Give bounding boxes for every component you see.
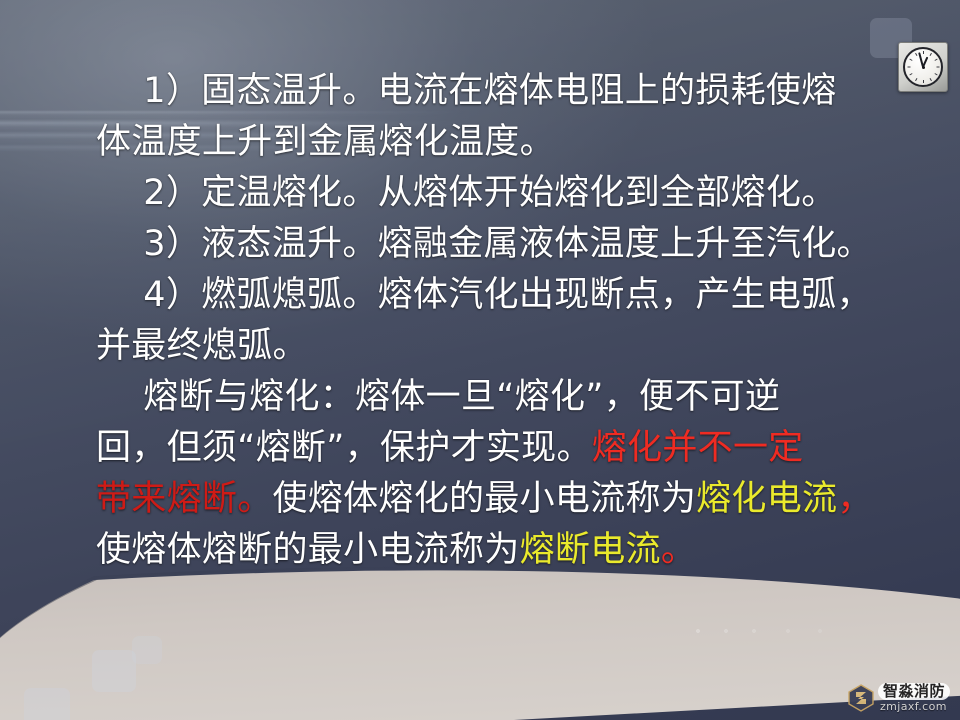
text-run: 并最终熄弧。 <box>96 326 308 366</box>
paragraph-summary-cont-2: 带来熔断。使熔体熔化的最小电流称为熔化电流， <box>96 474 916 524</box>
text-run: 熔断电流 <box>520 530 661 570</box>
text-run: 带来熔断。 <box>96 479 273 519</box>
text-run: 4）燃弧熄弧。熔体汽化出现断点，产生电弧， <box>143 275 872 315</box>
paragraph-item-4-cont: 并最终熄弧。 <box>96 321 916 371</box>
text-run: 1）固态温升。电流在熔体电阻上的损耗使熔 <box>143 71 836 111</box>
slide-body-text: 1）固态温升。电流在熔体电阻上的损耗使熔体温度上升到金属熔化温度。2）定温熔化。… <box>96 66 916 576</box>
paragraph-item-4: 4）燃弧熄弧。熔体汽化出现断点，产生电弧， <box>96 270 916 320</box>
clock-center-pin <box>922 66 925 69</box>
zhimiao-logo-icon <box>848 684 874 712</box>
text-run: 回，但须“熔断”，保护才实现。 <box>96 428 592 468</box>
text-run: 熔断与熔化：熔体一旦“熔化”，便不可逆 <box>143 377 780 417</box>
watermark-text: 智淼消防 zmjaxf.com <box>878 683 950 712</box>
watermark-brand: 智淼消防 <box>878 683 950 700</box>
text-run: ， <box>837 479 872 519</box>
clock-minute-hand <box>918 52 923 67</box>
paragraph-item-2: 2）定温熔化。从熔体开始熔化到全部熔化。 <box>96 168 916 218</box>
text-run: 使熔体熔断的最小电流称为 <box>96 530 520 570</box>
text-run: 体温度上升到金属熔化温度。 <box>96 122 555 162</box>
paragraph-item-1-cont: 体温度上升到金属熔化温度。 <box>96 117 916 167</box>
watermark-url: zmjaxf.com <box>878 701 950 712</box>
paragraph-summary: 熔断与熔化：熔体一旦“熔化”，便不可逆 <box>96 372 916 422</box>
presentation-slide: 1）固态温升。电流在熔体电阻上的损耗使熔体温度上升到金属熔化温度。2）定温熔化。… <box>0 0 960 720</box>
text-run: 熔化并不一定 <box>592 428 804 468</box>
paragraph-item-1: 1）固态温升。电流在熔体电阻上的损耗使熔 <box>96 66 916 116</box>
watermark: 智淼消防 zmjaxf.com <box>848 683 950 712</box>
text-run: 使熔体熔化的最小电流称为 <box>273 479 697 519</box>
text-run: 3）液态温升。熔融金属液体温度上升至汽化。 <box>143 224 872 264</box>
text-run: 2）定温熔化。从熔体开始熔化到全部熔化。 <box>143 173 836 213</box>
paragraph-summary-cont-1: 回，但须“熔断”，保护才实现。熔化并不一定 <box>96 423 916 473</box>
text-run: 。 <box>661 530 696 570</box>
paragraph-item-3: 3）液态温升。熔融金属液体温度上升至汽化。 <box>96 219 916 269</box>
paragraph-summary-cont-3: 使熔体熔断的最小电流称为熔断电流。 <box>96 525 916 575</box>
text-run: 熔化电流 <box>696 479 837 519</box>
